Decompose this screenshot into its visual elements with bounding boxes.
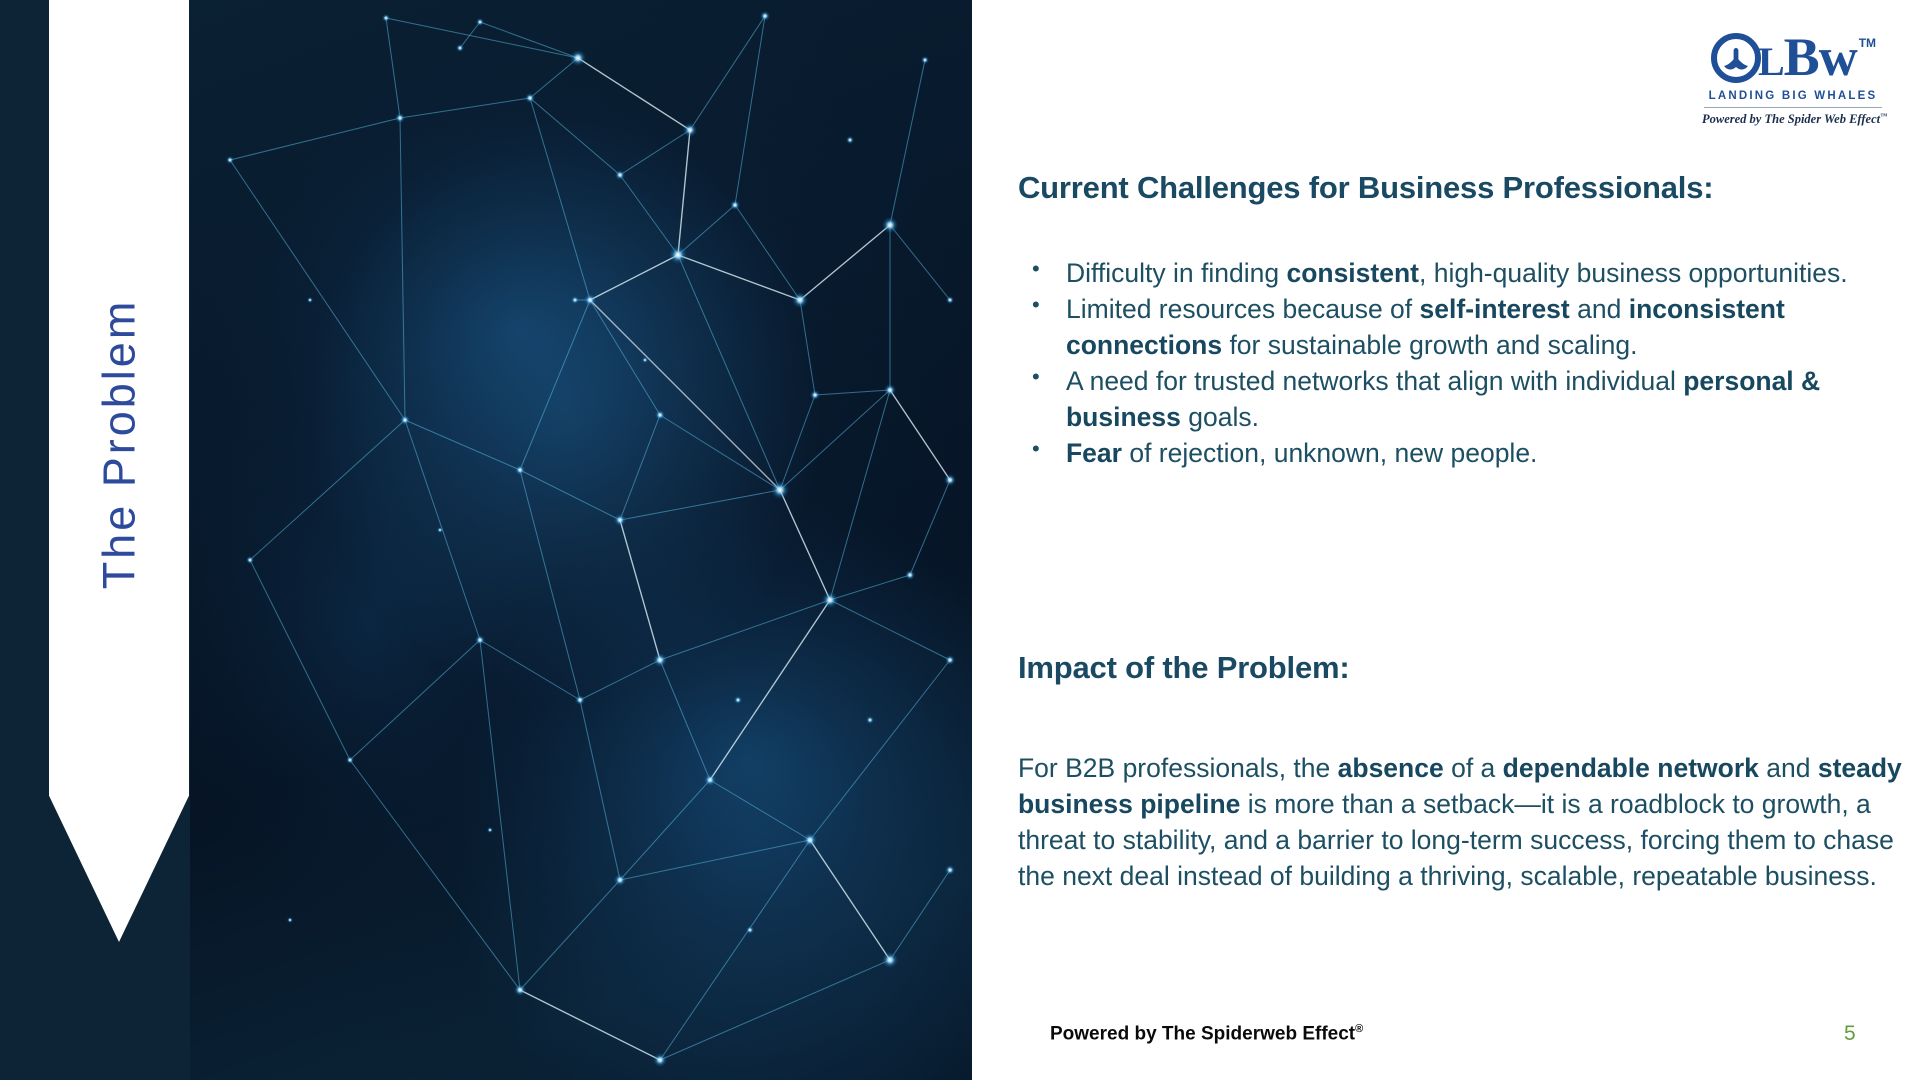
body-text: goals. — [1181, 402, 1259, 432]
impact-paragraph: For B2B professionals, the absence of a … — [1018, 750, 1920, 894]
slide: The Problem — [0, 0, 1920, 1080]
network-nodes-image — [190, 0, 972, 1080]
side-title-container: The Problem — [49, 0, 189, 944]
emphasis-text: self-interest — [1420, 294, 1570, 324]
logo-wordmark: LBw — [1758, 32, 1857, 83]
logo-divider — [1704, 107, 1882, 108]
footer-powered-by: Powered by The Spiderweb Effect® — [1050, 1023, 1363, 1045]
list-item: Fear of rejection, unknown, new people. — [1018, 435, 1898, 471]
footer-powered-text: Powered by The Spiderweb Effect — [1050, 1023, 1355, 1044]
logo-letter-l: L — [1758, 39, 1784, 84]
body-text: , high-quality business opportunities. — [1419, 258, 1848, 288]
emphasis-text: dependable network — [1503, 753, 1759, 783]
body-text: Limited resources because of — [1066, 294, 1420, 324]
heading-impact-of-problem: Impact of the Problem: — [1018, 650, 1349, 686]
footer-registered-icon: ® — [1355, 1023, 1363, 1035]
body-text: and — [1759, 753, 1818, 783]
logo-powered-text: Powered by The Spider Web Effect — [1702, 112, 1880, 126]
body-text: A need for trusted networks that align w… — [1066, 366, 1683, 396]
body-text: of a — [1444, 753, 1503, 783]
list-item: Difficulty in finding consistent, high-q… — [1018, 255, 1898, 291]
challenges-bullet-list: Difficulty in finding consistent, high-q… — [1018, 255, 1898, 471]
emphasis-text: Fear — [1066, 438, 1122, 468]
list-item: Limited resources because of self-intere… — [1018, 291, 1898, 363]
side-title: The Problem — [93, 299, 145, 590]
list-item: A need for trusted networks that align w… — [1018, 363, 1898, 435]
logo-tagline: LANDING BIG WHALES — [1702, 90, 1884, 102]
body-text: For B2B professionals, the — [1018, 753, 1338, 783]
whale-circle-icon — [1710, 32, 1762, 89]
body-text: of rejection, unknown, new people. — [1122, 438, 1537, 468]
logo-letters-bw: Bw — [1784, 27, 1857, 87]
content-area: LBw TM LANDING BIG WHALES Powered by The… — [1018, 0, 1920, 1080]
logo-powered-by: Powered by The Spider Web Effect™ — [1702, 112, 1884, 127]
trademark-icon: TM — [1859, 36, 1876, 50]
body-text: for sustainable growth and scaling. — [1222, 330, 1637, 360]
body-text: Difficulty in finding — [1066, 258, 1286, 288]
heading-current-challenges: Current Challenges for Business Professi… — [1018, 170, 1713, 206]
page-number: 5 — [1844, 1022, 1856, 1046]
logo-powered-tm: ™ — [1880, 112, 1887, 120]
lbw-logo[interactable]: LBw TM LANDING BIG WHALES Powered by The… — [1702, 32, 1884, 127]
emphasis-text: absence — [1338, 753, 1444, 783]
logo-wordmark-row: LBw TM — [1702, 32, 1884, 89]
network-graphic-svg — [190, 0, 972, 1080]
body-text: and — [1570, 294, 1629, 324]
emphasis-text: consistent — [1286, 258, 1419, 288]
